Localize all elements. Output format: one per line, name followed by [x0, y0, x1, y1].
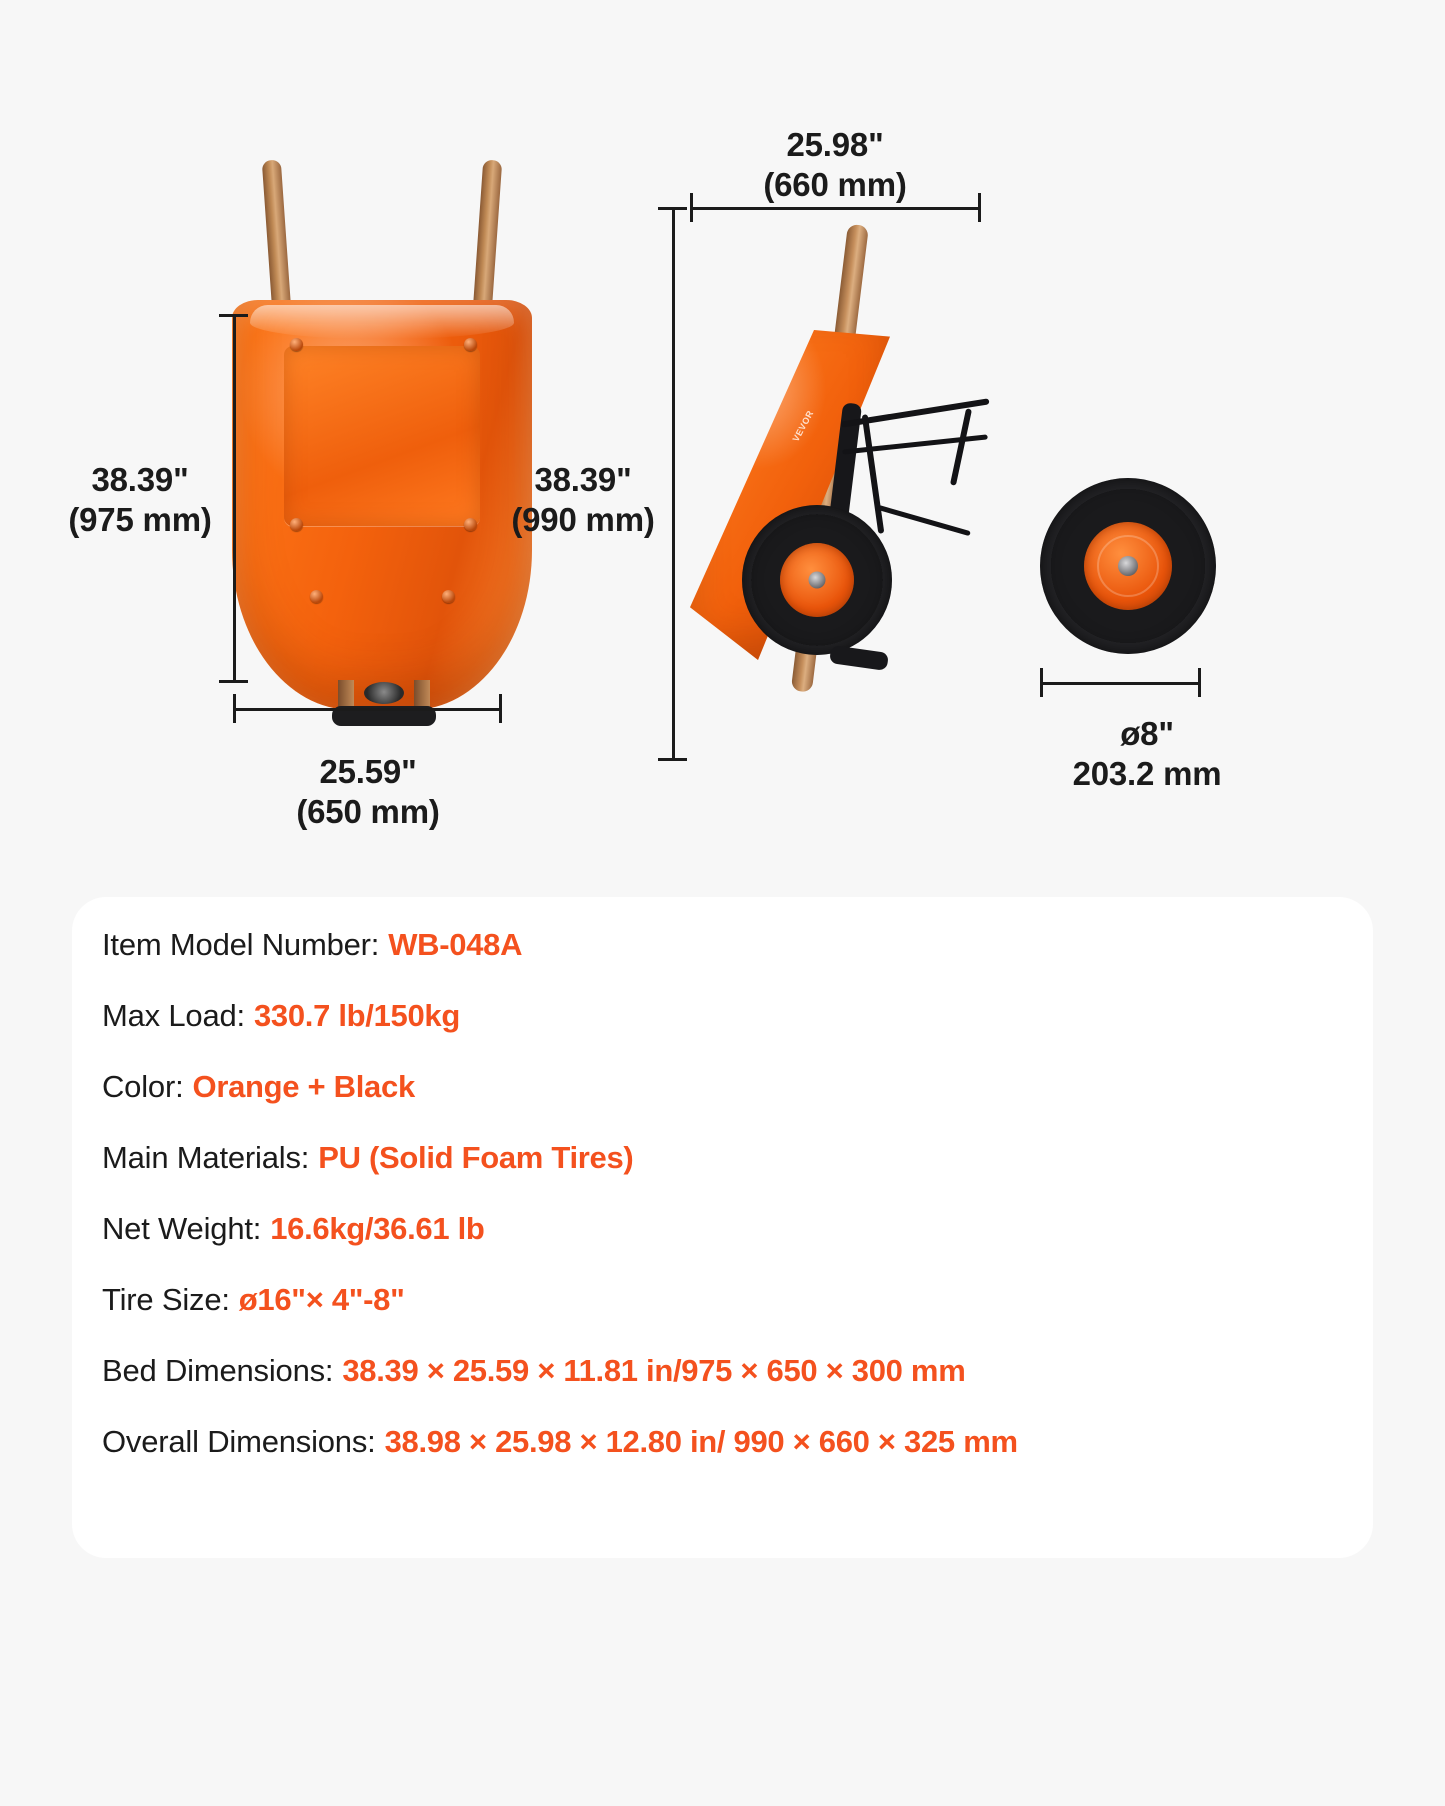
spec-value: 38.98 × 25.98 × 12.80 in/ 990 × 660 × 32…: [385, 1424, 1018, 1460]
side-width-dimension-line: [690, 207, 980, 210]
rivet: [464, 518, 477, 531]
spec-value: WB-048A: [388, 927, 522, 963]
product-spec-page: 38.39" (975 mm) 25.59" (650 mm) VEVOR: [0, 0, 1445, 1806]
rivet: [290, 518, 303, 531]
front-width-tick-right: [499, 694, 502, 723]
frame-bar-right-vertical: [950, 408, 972, 486]
spec-value: 38.39 × 25.59 × 11.81 in/975 × 650 × 300…: [342, 1353, 965, 1389]
side-width-tick-right: [978, 193, 981, 222]
side-width-label-line2: (660 mm): [735, 165, 935, 205]
side-height-dimension-line: [672, 207, 675, 760]
spec-label: Net Weight:: [102, 1211, 261, 1247]
front-width-label-line1: 25.59": [268, 752, 468, 792]
side-height-tick-bottom: [658, 758, 687, 761]
specification-list: Item Model Number: WB-048A Max Load: 330…: [102, 927, 1349, 1495]
front-height-dimension-line: [233, 314, 236, 682]
axle-front: [364, 682, 404, 704]
frame-bar-left-vertical: [862, 414, 885, 534]
rivet: [464, 338, 477, 351]
wheel-side: [742, 505, 892, 655]
wheel-detail: [1040, 478, 1216, 654]
legs-front: [328, 680, 440, 726]
spec-row-net-weight: Net Weight: 16.6kg/36.61 lb: [102, 1211, 1349, 1282]
tire-detail-illustration: [1040, 478, 1216, 654]
spec-label: Color:: [102, 1069, 184, 1105]
side-height-label: 38.39" (990 mm): [503, 460, 663, 541]
wheel-bolt: [809, 572, 826, 589]
front-view-illustration: [232, 160, 532, 740]
rivet: [310, 590, 323, 603]
front-width-tick-left: [233, 694, 236, 723]
tray-inner-panel: [284, 346, 480, 526]
spec-value: Orange + Black: [193, 1069, 415, 1105]
frame-bar-lower: [877, 505, 971, 536]
spec-row-main-materials: Main Materials: PU (Solid Foam Tires): [102, 1140, 1349, 1211]
spec-row-tire-size: Tire Size: ø16"× 4"-8": [102, 1282, 1349, 1353]
front-height-label-line1: 38.39": [60, 460, 220, 500]
spec-value: 16.6kg/36.61 lb: [270, 1211, 484, 1247]
spec-value: PU (Solid Foam Tires): [318, 1140, 633, 1176]
spec-label: Item Model Number:: [102, 927, 379, 963]
front-width-dimension-line: [233, 708, 501, 711]
spec-row-overall-dimensions: Overall Dimensions: 38.98 × 25.98 × 12.8…: [102, 1424, 1349, 1495]
tire-diameter-label: ø8" 203.2 mm: [1042, 714, 1252, 795]
tire-diameter-dimension-line: [1040, 682, 1200, 685]
spec-label: Max Load:: [102, 998, 245, 1034]
wheel-bolt: [1118, 556, 1138, 576]
spec-value: ø16"× 4"-8": [239, 1282, 405, 1318]
tire-diameter-tick-left: [1040, 668, 1043, 697]
side-width-label: 25.98" (660 mm): [735, 125, 935, 206]
spec-row-item-model-number: Item Model Number: WB-048A: [102, 927, 1349, 998]
tire-diameter-label-line2: 203.2 mm: [1042, 754, 1252, 794]
rivet: [442, 590, 455, 603]
spec-row-color: Color: Orange + Black: [102, 1069, 1349, 1140]
spec-row-max-load: Max Load: 330.7 lb/150kg: [102, 998, 1349, 1069]
side-height-label-line1: 38.39": [503, 460, 663, 500]
spec-label: Bed Dimensions:: [102, 1353, 333, 1389]
front-height-label: 38.39" (975 mm): [60, 460, 220, 541]
side-height-label-line2: (990 mm): [503, 500, 663, 540]
spec-label: Tire Size:: [102, 1282, 230, 1318]
front-height-label-line2: (975 mm): [60, 500, 220, 540]
spec-label: Main Materials:: [102, 1140, 309, 1176]
front-height-tick-top: [219, 314, 248, 317]
spec-value: 330.7 lb/150kg: [254, 998, 460, 1034]
dimension-diagram-area: 38.39" (975 mm) 25.59" (650 mm) VEVOR: [0, 0, 1445, 1040]
specification-card: Item Model Number: WB-048A Max Load: 330…: [72, 897, 1373, 1558]
tray-front: [232, 300, 532, 710]
front-width-label: 25.59" (650 mm): [268, 752, 468, 833]
tire-diameter-label-line1: ø8": [1042, 714, 1252, 754]
front-height-tick-bottom: [219, 680, 248, 683]
side-height-tick-top: [658, 207, 687, 210]
front-width-label-line2: (650 mm): [268, 792, 468, 832]
spec-label: Overall Dimensions:: [102, 1424, 376, 1460]
spec-row-bed-dimensions: Bed Dimensions: 38.39 × 25.59 × 11.81 in…: [102, 1353, 1349, 1424]
foot-side: [829, 645, 889, 671]
tire-diameter-tick-right: [1198, 668, 1201, 697]
rivet: [290, 338, 303, 351]
side-width-tick-left: [690, 193, 693, 222]
side-view-illustration: VEVOR: [690, 225, 1020, 765]
side-width-label-line1: 25.98": [735, 125, 935, 165]
